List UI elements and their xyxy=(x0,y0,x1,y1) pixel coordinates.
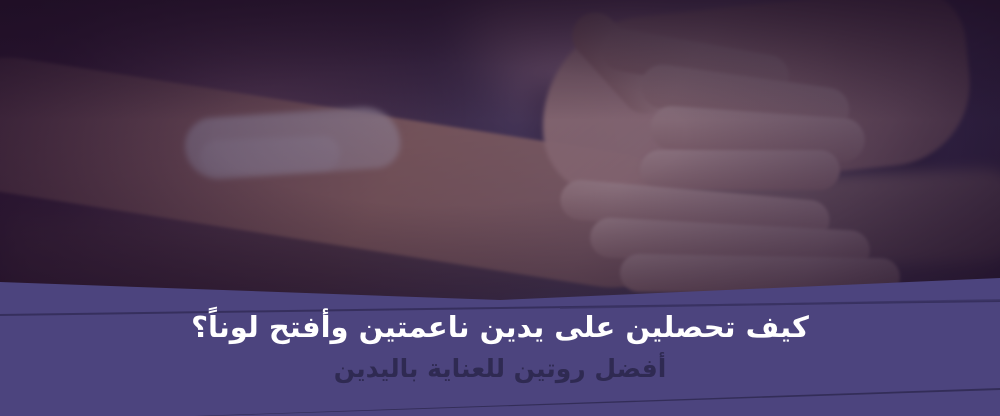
banner-canvas: كيف تحصلين على يدين ناعمتين وأفتح لوناً؟… xyxy=(0,0,1000,416)
page-title: كيف تحصلين على يدين ناعمتين وأفتح لوناً؟ xyxy=(0,308,1000,346)
hero-photo xyxy=(0,0,1000,300)
banner-text-block: كيف تحصلين على يدين ناعمتين وأفتح لوناً؟… xyxy=(0,308,1000,386)
page-subtitle: أفضل روتين للعناية باليدين xyxy=(0,352,1000,386)
photo-top-shade xyxy=(0,0,1000,120)
